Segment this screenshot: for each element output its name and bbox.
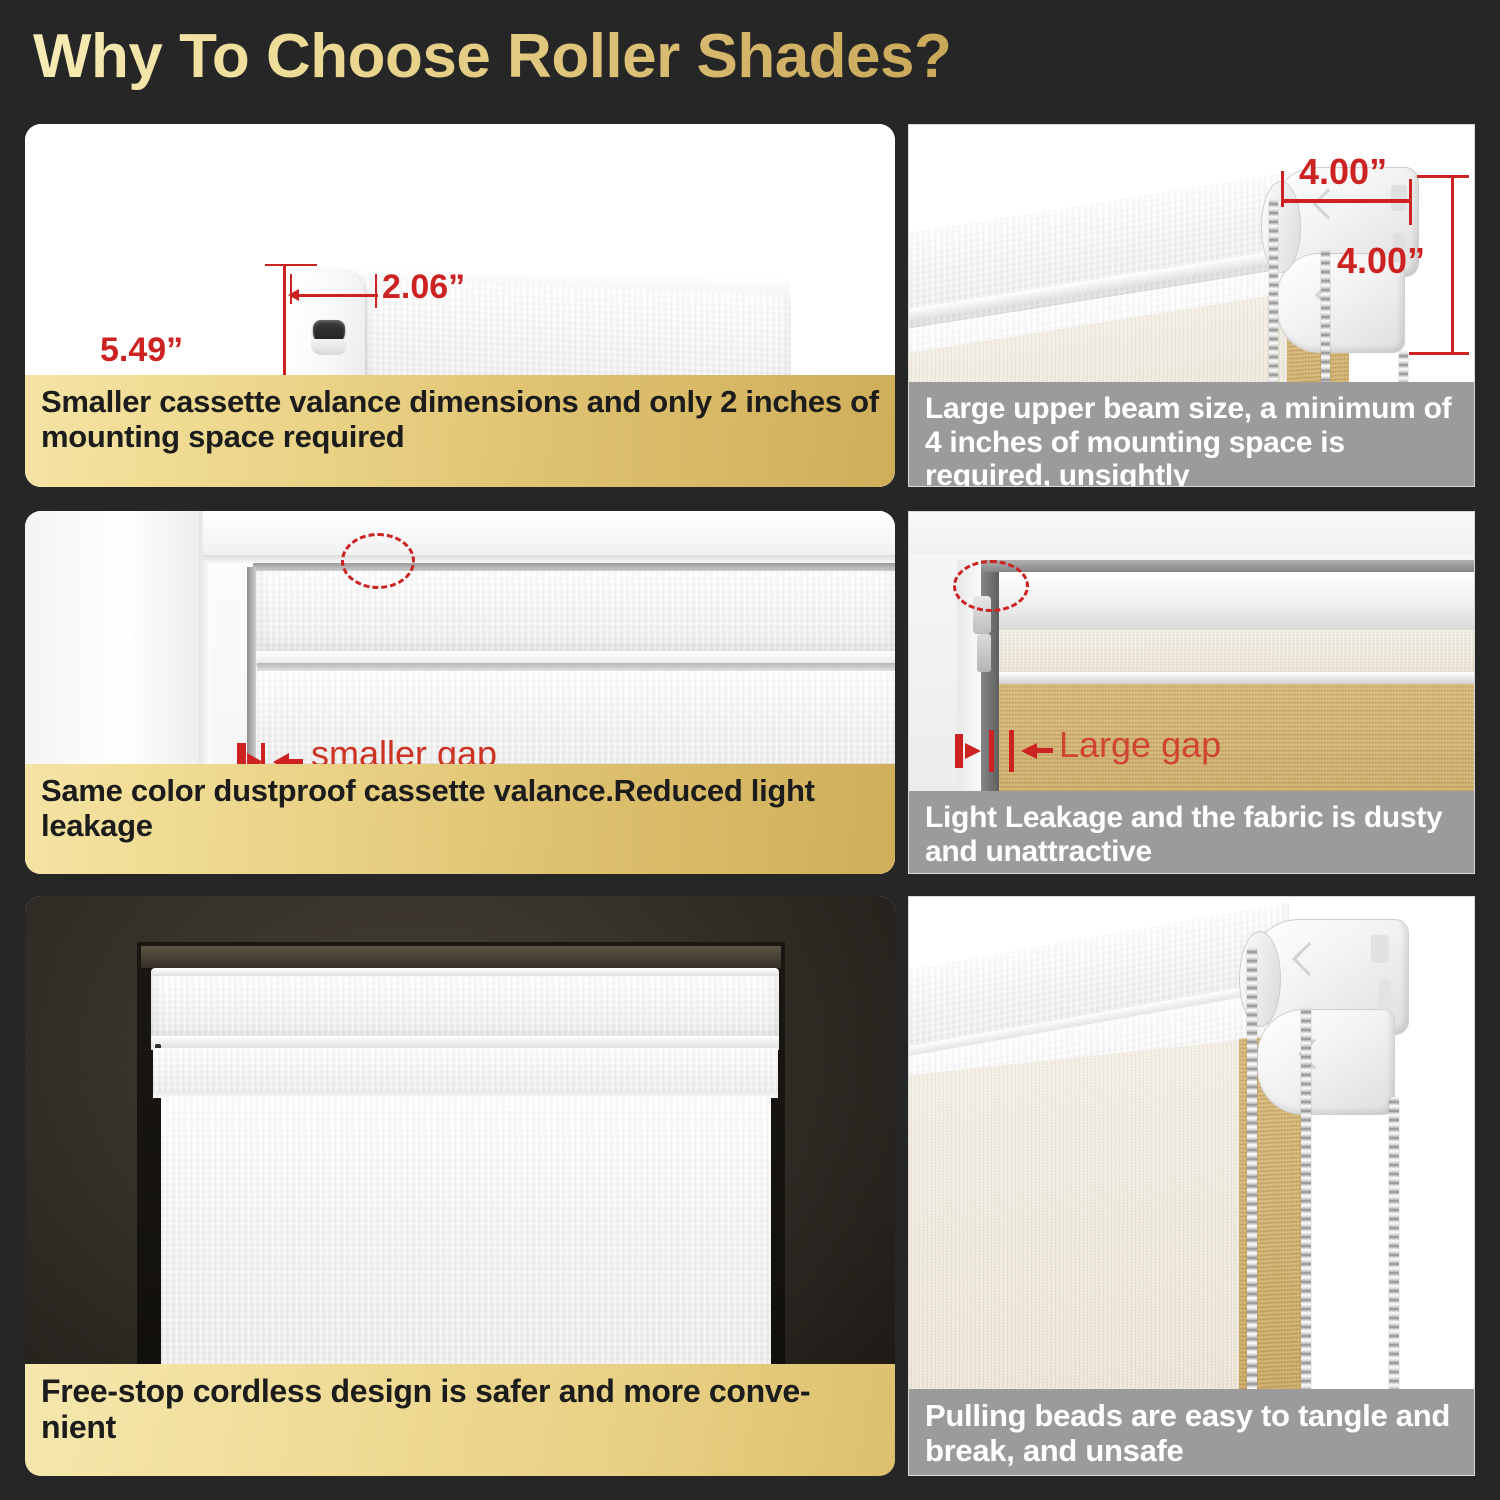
panel-dustproof-cassette: smaller gap Same color dustproof cassett… (25, 511, 895, 874)
gap-annotation-large: Large gap (1059, 724, 1221, 766)
dimension-label-height: 5.49” (100, 331, 183, 370)
panel-2-caption: Large upper beam size, a minimum of 4 in… (909, 382, 1474, 486)
panel-5-caption: Free-stop cordless design is safer and m… (25, 1364, 895, 1476)
panel-smaller-cassette: 2.06” 5.49” Smaller cassette valance dim… (25, 124, 895, 487)
panel-light-leakage: Large gap Light Leakage and the fabric i… (908, 511, 1475, 874)
roller-bracket-lower2 (1257, 1009, 1395, 1115)
highlight-circle (341, 533, 415, 589)
dimension-label-width: 2.06” (382, 268, 465, 307)
panel-pulling-beads: Pulling beads are easy to tangle and bre… (908, 896, 1475, 1476)
infographic-root: Why To Choose Roller Shades? 2.06” (0, 0, 1500, 1500)
highlight-circle-leakage (953, 560, 1029, 612)
panel-6-caption: Pulling beads are easy to tangle and bre… (909, 1389, 1474, 1475)
page-title: Why To Choose Roller Shades? (33, 18, 1033, 96)
panel-cordless-design: Free-stop cordless design is safer and m… (25, 896, 895, 1476)
dimension-label-beam-height: 4.00” (1337, 240, 1425, 282)
panel-1-caption: Smaller cassette valance dimensions and … (25, 375, 895, 487)
dimension-label-beam-width: 4.00” (1299, 151, 1387, 193)
panel-3-caption: Same color dustproof cassette valance.Re… (25, 764, 895, 874)
panel-4-caption: Light Leakage and the fabric is dusty an… (909, 791, 1474, 873)
panel-large-upper-beam: 4.00” 4.00” Large upper beam size, a min… (908, 124, 1475, 487)
bead-chain-1 (1247, 947, 1257, 1455)
